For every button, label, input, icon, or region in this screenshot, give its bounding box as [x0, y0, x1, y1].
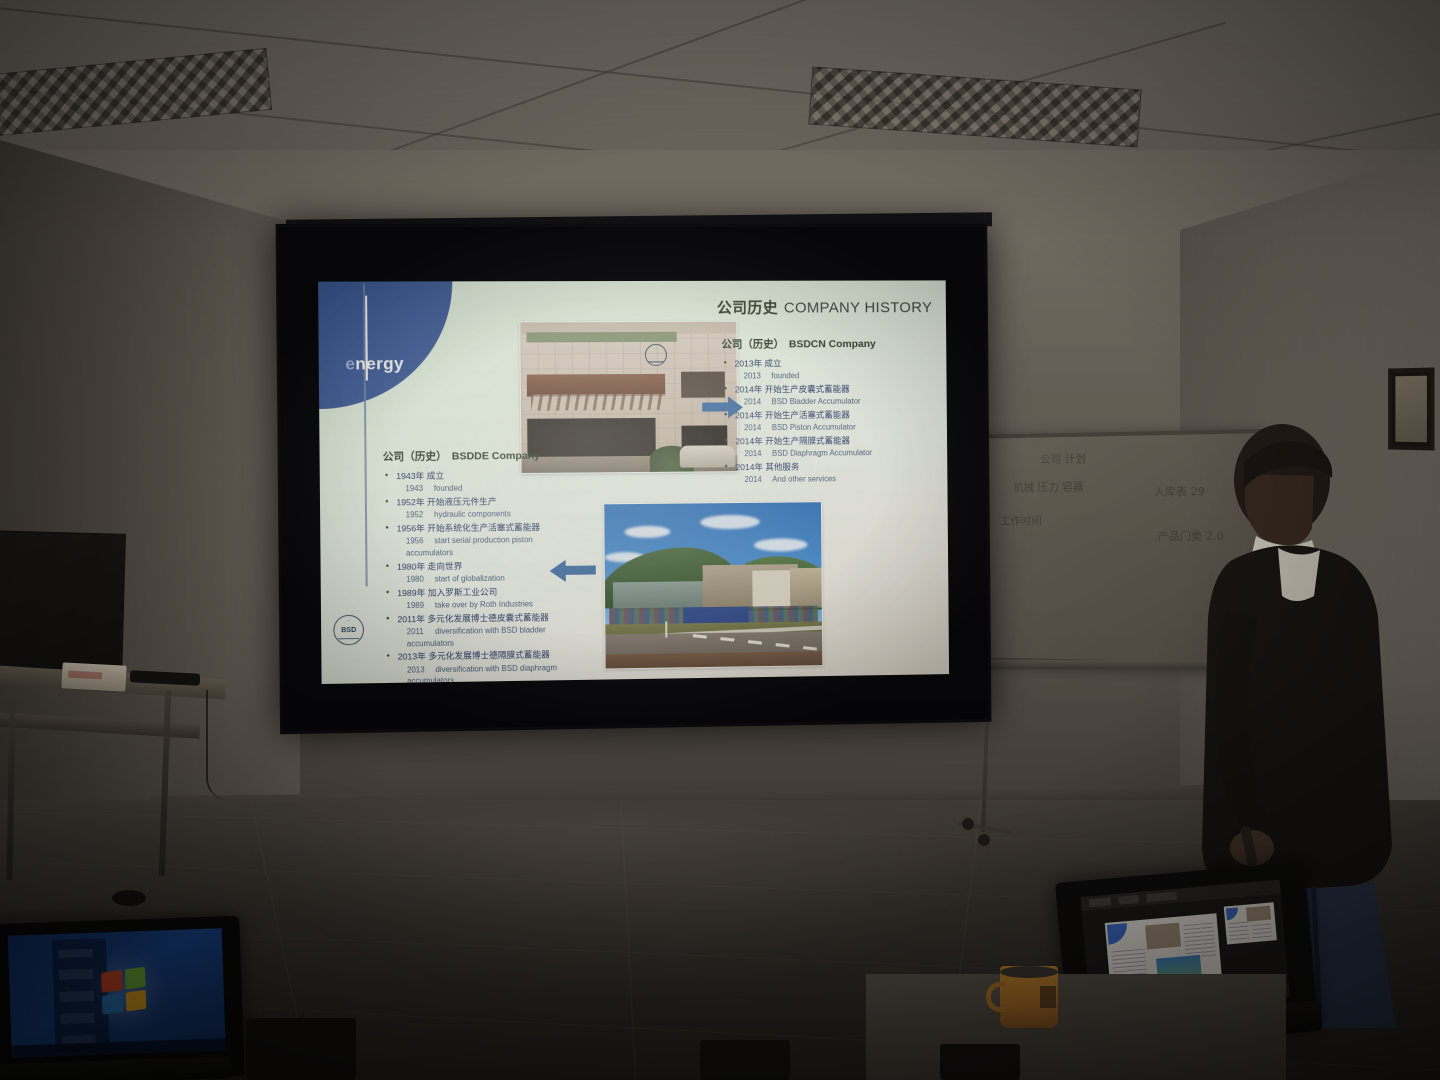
- slide-photo-thumb: [1145, 923, 1181, 950]
- bsdde-heading: 公司（历史）BSDDE Company: [383, 447, 621, 464]
- table-edge-object: [246, 1018, 356, 1080]
- presenter-shirt-front: [1278, 548, 1320, 601]
- presentation-slide: efficient energy BSD 公司历史COMPANY HISTORY: [318, 280, 949, 684]
- history-entry: 2014年 开始生产隔膜式蓄能器 2014BSD Diaphragm Accum…: [722, 434, 947, 461]
- history-entry: 2014年 开始生产活塞式蓄能器 2014BSD Piston Accumula…: [722, 408, 947, 434]
- entry-year: 2014: [744, 474, 772, 486]
- entry-text: And other services: [772, 475, 836, 485]
- thumb-logo-disc: [1226, 907, 1239, 920]
- left-wall: [0, 140, 300, 900]
- logo-word-energy: energy: [345, 354, 404, 374]
- slide-text-lines: [1183, 922, 1216, 958]
- bsdde-heading-cn: 公司（历史）: [383, 450, 447, 463]
- entry-year: 1989: [406, 600, 435, 612]
- entry-text: BSD Bladder Accumulator: [772, 397, 861, 406]
- entry-year: 2014: [744, 422, 772, 434]
- bsd-logo-badge: BSD: [333, 615, 364, 646]
- entry-text: founded: [434, 484, 463, 493]
- history-entry: 1989年 加入罗斯工业公司 1989take over by Roth Ind…: [384, 584, 622, 612]
- history-entry: 2011年 多元化发展博士德皮囊式蓄能器 2011diversification…: [384, 610, 622, 650]
- conference-table: [866, 974, 1286, 1080]
- whiteboard-caster: [962, 818, 974, 830]
- ribbon-tab[interactable]: [1146, 892, 1177, 903]
- projection-screen: efficient energy BSD 公司历史COMPANY HISTORY: [276, 224, 992, 734]
- mug-rim: [1000, 966, 1058, 978]
- history-entry: 2014年 开始生产皮囊式蓄能器 2014BSD Bladder Accumul…: [722, 382, 947, 408]
- entry-year: 1943: [405, 483, 434, 495]
- factory-roadside-photo: [603, 501, 823, 669]
- power-cable: [206, 690, 228, 800]
- equipment-box: [61, 662, 126, 691]
- entry-text: BSD Diaphragm Accumulator: [772, 448, 872, 458]
- bsdde-heading-en: BSDDE Company: [452, 450, 540, 463]
- entry-text: start serial production piston: [434, 535, 533, 545]
- laptop-screen-windows-desktop[interactable]: [8, 928, 226, 1057]
- windows-logo-icon: [101, 967, 146, 1015]
- entry-text: start of globalization: [435, 574, 505, 584]
- slide-thumbnail-panel[interactable]: [1224, 902, 1277, 944]
- coffee-mug[interactable]: [1000, 966, 1058, 1028]
- logo-e-accent: e: [345, 354, 355, 373]
- logo-nergy: nergy: [355, 354, 404, 373]
- slide-title-cn: 公司历史: [717, 300, 778, 317]
- history-entry: 1980年 走向世界 1980start of globalization: [384, 558, 622, 586]
- desktop-icons[interactable]: [58, 949, 95, 1046]
- thumb-text-lines: [1251, 923, 1272, 939]
- history-entry: 2013年 多元化发展博士德隔膜式蓄能器 2013diversification…: [385, 648, 623, 684]
- entry-text: diversification with BSD diaphragm: [435, 663, 557, 674]
- ribbon-tab[interactable]: [1118, 895, 1139, 905]
- history-entry: 1956年 开始系统化生产活塞式蓄能器 1956start serial pro…: [383, 520, 621, 559]
- mug-handle: [986, 982, 1006, 1012]
- monitor-display: [0, 530, 126, 682]
- brand-logo-disc: [318, 281, 453, 409]
- table-edge-object: [940, 1044, 1020, 1080]
- entry-year: 2011: [407, 626, 436, 638]
- entry-text: diversification with BSD bladder: [435, 625, 546, 636]
- slide-title-en: COMPANY HISTORY: [784, 299, 932, 316]
- bsdcn-company-column: 公司（历史）BSDCN Company 2013年 成立 2013founded…: [721, 336, 947, 487]
- entry-year: 2013: [407, 664, 436, 676]
- thumb-text-lines: [1228, 921, 1249, 941]
- history-entry: 1952年 开始液压元件生产 1952hydraulic components: [383, 494, 621, 521]
- history-entry: 2013年 成立 2013founded: [722, 357, 947, 383]
- table-edge-object: [700, 1040, 790, 1080]
- entry-year: 1952: [406, 509, 435, 521]
- bsdcn-heading-cn: 公司（历史）: [721, 338, 784, 350]
- left-laptop[interactable]: [0, 916, 245, 1080]
- whiteboard-note: 公司 计划: [1040, 451, 1086, 468]
- entry-text: founded: [771, 371, 799, 380]
- entry-year: 2014: [744, 397, 772, 409]
- cart-caster: [112, 890, 146, 906]
- conference-room-scene: 公司 计划 机械 压力 容器 工作时间 入库表 29 产品门类 2.0 effi…: [0, 0, 1440, 1080]
- entry-year: 1980: [406, 573, 435, 585]
- entry-text: BSD Piston Accumulator: [772, 423, 856, 433]
- bsdde-company-column: 公司（历史）BSDDE Company 1943年 成立 1943founded…: [383, 447, 623, 684]
- presenter-face: [1245, 474, 1314, 546]
- logo-word-efficient: efficient: [348, 280, 366, 297]
- box-label: [68, 671, 102, 680]
- building-bsd-logo-icon: [645, 344, 667, 366]
- history-entry: 2014年 其他服务 2014And other services: [723, 459, 948, 486]
- slide-logo-disc: [1107, 923, 1129, 945]
- mug-band: [1040, 986, 1056, 1008]
- bsdcn-heading: 公司（历史）BSDCN Company: [721, 336, 946, 352]
- bsd-badge-text: BSD: [341, 626, 356, 633]
- slide-title: 公司历史COMPANY HISTORY: [717, 296, 933, 317]
- entry-text: take over by Roth Industries: [435, 599, 533, 609]
- ribbon-tab[interactable]: [1089, 897, 1112, 907]
- thumb-photo: [1246, 906, 1271, 922]
- entry-year: 2014: [744, 448, 772, 460]
- entry-year: 1956: [406, 536, 435, 548]
- whiteboard-note: 工作时间: [1000, 512, 1042, 528]
- history-entry: 1943年 成立 1943founded: [383, 468, 621, 495]
- entry-year: 2013: [744, 371, 772, 383]
- entry-text: hydraulic components: [434, 510, 511, 520]
- whiteboard-caster: [978, 834, 990, 846]
- bsdcn-heading-en: BSDCN Company: [789, 338, 876, 350]
- whiteboard-note: 机械 压力 容器: [1013, 478, 1083, 495]
